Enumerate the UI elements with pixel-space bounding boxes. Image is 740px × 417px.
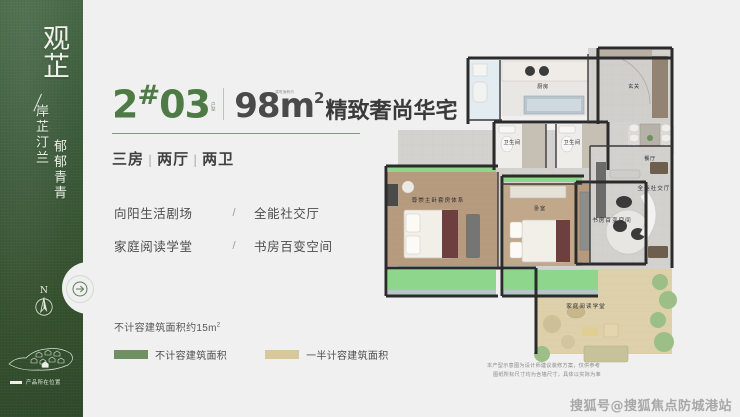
feature-list: 向阳生活剧场 / 全能社交厅 家庭阅读学堂 / 书房百变空间 — [114, 203, 333, 269]
area-block: 建筑面积约 98m 2 — [234, 91, 324, 122]
title-underline — [112, 133, 360, 134]
unit-hash: # — [137, 80, 159, 111]
plan-disclaimer: 本产型示意图为设计师建议装修方案，仅供参考 图纸所标尺寸均为含墙尺寸，具体以实际… — [487, 362, 601, 380]
room-config-0: 三房 — [112, 150, 144, 168]
location-legend: 产品所在位置 — [10, 378, 61, 386]
feature-row: 家庭阅读学堂 / 书房百变空间 — [114, 236, 333, 255]
legend-label-0: 不计容建筑面积 — [155, 347, 227, 362]
label-bathroom-1: 卫生间 — [503, 138, 520, 146]
location-legend-label: 产品所在位置 — [26, 378, 61, 386]
plan-legend: 不计容建筑面积 一半计容建筑面积 — [114, 347, 389, 362]
disclaimer-line-1: 本产型示意图为设计师建议装修方案，仅供参考 — [487, 362, 601, 371]
label-dining: 餐厅 — [644, 154, 655, 162]
arrow-right-glyph — [72, 281, 88, 297]
room-config: 三房|两厅|两卫 — [112, 148, 234, 169]
floor-plan-drawing: 厨房 玄关 卫生间 卫生间 餐厅 全能社交厅 尊崇主卧套房体系 卧室 书房百变空… — [372, 24, 732, 364]
room-bathroom-1 — [496, 124, 546, 168]
brand-sidebar: 观芷 岸芷汀兰 郁郁青青 N — [0, 0, 83, 417]
feature-sep-1: / — [214, 240, 254, 252]
room-sep-2: | — [189, 153, 202, 167]
label-study-flex: 书房百变空间 — [592, 216, 632, 224]
label-foyer: 玄关 — [628, 82, 639, 90]
room-config-2: 两卫 — [202, 150, 234, 168]
legend-item-1: 一半计容建筑面积 — [265, 347, 388, 362]
utility-room — [470, 61, 500, 121]
unit-sub-label: 户型 — [211, 102, 216, 120]
feature-left-0: 向阳生活剧场 — [114, 203, 214, 222]
label-bathroom-2: 卫生间 — [563, 138, 580, 146]
feature-row: 向阳生活剧场 / 全能社交厅 — [114, 203, 333, 222]
feature-right-1: 书房百变空间 — [254, 236, 333, 255]
legend-swatch-beige — [265, 350, 299, 359]
area-superscript: 2 — [314, 91, 324, 106]
area-note-text: 不计容建筑面积约15m — [114, 323, 217, 334]
area-note: 不计容建筑面积约15m2 — [114, 319, 220, 334]
compass-icon: N — [32, 288, 56, 318]
feature-sep-0: / — [214, 207, 254, 219]
area-number: 98m — [234, 91, 314, 122]
location-swatch — [10, 381, 22, 384]
arrow-right-circle-icon[interactable] — [66, 275, 94, 303]
legend-swatch-green — [114, 350, 148, 359]
room-master-bedroom — [386, 172, 498, 266]
legend-item-0: 不计容建筑面积 — [114, 347, 227, 362]
title-divider — [223, 88, 224, 120]
room-living — [590, 146, 672, 264]
room-sep-1: | — [144, 153, 157, 167]
unit-number: 2#03 — [112, 84, 210, 123]
label-kitchen: 厨房 — [537, 82, 548, 90]
feature-right-0: 全能社交厅 — [254, 203, 320, 222]
label-social-hall: 全能社交厅 — [638, 184, 671, 192]
label-master-suite: 尊崇主卧套房体系 — [412, 196, 465, 204]
room-bedroom-2 — [504, 184, 582, 266]
area-value: 98 — [234, 86, 279, 126]
unit-building-number: 2 — [112, 83, 137, 127]
unit-code: 03 — [159, 83, 210, 127]
area-tiny-label: 建筑面积约 — [275, 90, 294, 95]
label-reading-hall: 家庭阅读学堂 — [566, 302, 606, 310]
brand-vertical-sub-2: 郁郁青青 — [46, 139, 68, 201]
watermark: 搜狐号@搜狐焦点防城港站 — [570, 395, 732, 414]
slide-root: 观芷 岸芷汀兰 郁郁青青 N — [0, 0, 740, 417]
disclaimer-line-2: 图纸所标尺寸均为含墙尺寸，具体以实际为准 — [487, 371, 601, 380]
room-config-1: 两厅 — [157, 150, 189, 168]
compass-north-label: N — [40, 286, 48, 296]
area-note-sup: 2 — [217, 323, 221, 329]
floor-plan: 厨房 玄关 卫生间 卫生间 餐厅 全能社交厅 尊崇主卧套房体系 卧室 书房百变空… — [372, 24, 732, 364]
label-bedroom-2: 卧室 — [534, 204, 545, 212]
brand-vertical-title: 观芷 — [16, 24, 72, 80]
feature-left-1: 家庭阅读学堂 — [114, 236, 214, 255]
site-map-icon — [6, 340, 78, 376]
